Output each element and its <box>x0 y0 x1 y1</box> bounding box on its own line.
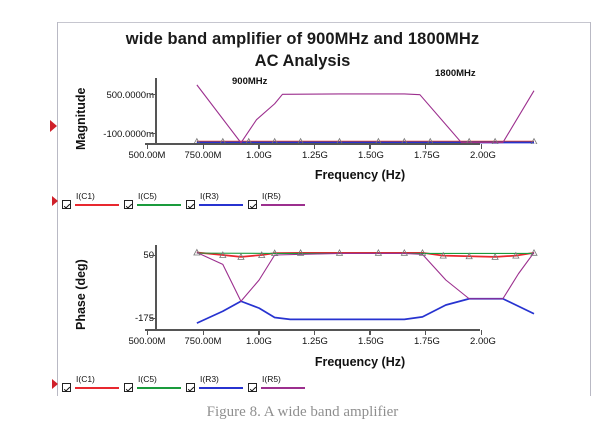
phase-x-axis-label: Frequency (Hz) <box>230 355 490 369</box>
xtick-mark <box>147 330 148 335</box>
magnitude-plot-area[interactable] <box>156 78 580 144</box>
magnitude-xtick-2: 1.00G <box>229 150 289 161</box>
xtick-mark <box>258 330 259 335</box>
legend-label: I(C1) <box>76 374 95 384</box>
phase-ytick-mark-bottom <box>150 318 156 319</box>
phase-xtick-1: 750.00M <box>173 336 233 347</box>
legend-color-swatch <box>137 204 181 206</box>
legend-item-ic1[interactable]: I(C1) <box>60 375 124 397</box>
phase-ytick-bottom: -175 <box>98 313 154 324</box>
trace-ir3 <box>197 299 534 323</box>
legend-label: I(R3) <box>200 374 219 384</box>
magnitude-xtick-4: 1.50G <box>341 150 401 161</box>
magnitude-xtick-5: 1.75G <box>397 150 457 161</box>
xtick-mark <box>369 144 370 149</box>
xtick-mark <box>425 144 426 149</box>
xtick-mark <box>481 330 482 335</box>
legend-item-ic1[interactable]: I(C1) <box>60 192 124 214</box>
magnitude-xtick-1: 750.00M <box>173 150 233 161</box>
legend-color-swatch <box>261 387 305 389</box>
magnitude-x-axis-label: Frequency (Hz) <box>230 168 490 182</box>
legend-item-ir3[interactable]: I(R3) <box>184 192 248 214</box>
phase-ytick-top: 50 <box>98 250 154 261</box>
legend-color-swatch <box>75 204 119 206</box>
top-legend-marker[interactable] <box>52 196 58 206</box>
figure-caption: Figure 8. A wide band amplifier <box>0 404 605 421</box>
chart-title-line2: AC Analysis <box>0 52 605 71</box>
legend-color-swatch <box>199 387 243 389</box>
legend-label: I(C5) <box>138 191 157 201</box>
figure-container: wide band amplifier of 900MHz and 1800MH… <box>0 0 605 421</box>
legend-item-ic5[interactable]: I(C5) <box>122 192 186 214</box>
legend-label: I(R3) <box>200 191 219 201</box>
phase-axis-label: Phase (deg) <box>74 259 88 330</box>
legend-checkbox-icon[interactable] <box>248 383 257 392</box>
magnitude-xtick-0: 500.00M <box>117 150 177 161</box>
phase-plot-area[interactable] <box>156 245 580 330</box>
phase-xtick-6: 2.00G <box>453 336 513 347</box>
phase-xtick-3: 1.25G <box>285 336 345 347</box>
phase-xtick-0: 500.00M <box>117 336 177 347</box>
legend-checkbox-icon[interactable] <box>124 200 133 209</box>
magnitude-ytick-bottom: -100.0000m <box>88 129 154 140</box>
phase-xtick-2: 1.00G <box>229 336 289 347</box>
magnitude-xtick-3: 1.25G <box>285 150 345 161</box>
magnitude-ytick-mark-top <box>150 94 156 95</box>
legend-label: I(C5) <box>138 374 157 384</box>
figure-frame-top <box>57 22 591 23</box>
legend-item-ir5[interactable]: I(R5) <box>246 375 310 397</box>
legend-checkbox-icon[interactable] <box>186 383 195 392</box>
xtick-mark <box>369 330 370 335</box>
magnitude-ytick-top: 500.0000m <box>88 90 154 101</box>
magnitude-legend[interactable]: I(C1)I(C5)I(R3)I(R5) <box>60 192 310 214</box>
legend-checkbox-icon[interactable] <box>62 200 71 209</box>
xtick-mark <box>425 330 426 335</box>
phase-legend[interactable]: I(C1)I(C5)I(R3)I(R5) <box>60 375 310 397</box>
legend-color-swatch <box>137 387 181 389</box>
legend-checkbox-icon[interactable] <box>186 200 195 209</box>
xtick-mark <box>203 330 204 335</box>
xtick-mark <box>203 144 204 149</box>
legend-checkbox-icon[interactable] <box>62 383 71 392</box>
legend-label: I(R5) <box>262 374 281 384</box>
trace-ir5 <box>197 85 534 143</box>
magnitude-axis-label: Magnitude <box>74 88 88 151</box>
phase-ytick-mark-top <box>150 255 156 256</box>
legend-color-swatch <box>75 387 119 389</box>
phase-xtick-5: 1.75G <box>397 336 457 347</box>
legend-label: I(C1) <box>76 191 95 201</box>
legend-checkbox-icon[interactable] <box>124 383 133 392</box>
xtick-mark <box>314 144 315 149</box>
magnitude-x-axis <box>145 143 480 145</box>
chart-title-line1: wide band amplifier of 900MHz and 1800MH… <box>0 30 605 49</box>
figure-frame-right <box>590 22 591 396</box>
xtick-mark <box>147 144 148 149</box>
xtick-mark <box>314 330 315 335</box>
xtick-mark <box>481 144 482 149</box>
figure-frame-left <box>57 22 58 396</box>
magnitude-xtick-6: 2.00G <box>453 150 513 161</box>
xtick-mark <box>258 144 259 149</box>
phase-xtick-4: 1.50G <box>341 336 401 347</box>
phase-x-axis <box>145 329 480 331</box>
legend-label: I(R5) <box>262 191 281 201</box>
bottom-legend-marker[interactable] <box>52 379 58 389</box>
magnitude-ytick-mark-bottom <box>150 133 156 134</box>
legend-color-swatch <box>199 204 243 206</box>
legend-color-swatch <box>261 204 305 206</box>
legend-item-ir5[interactable]: I(R5) <box>246 192 310 214</box>
legend-item-ic5[interactable]: I(C5) <box>122 375 186 397</box>
legend-checkbox-icon[interactable] <box>248 200 257 209</box>
legend-item-ir3[interactable]: I(R3) <box>184 375 248 397</box>
trace-ir5 <box>197 253 534 302</box>
magnitude-cursor-marker[interactable] <box>50 120 57 132</box>
